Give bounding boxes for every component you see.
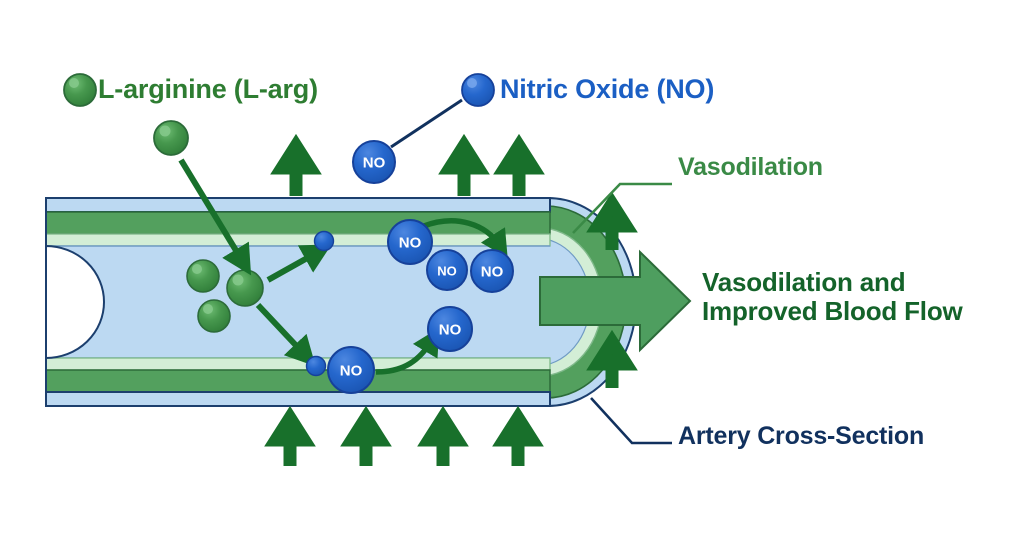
no-molecule-label: NO (481, 264, 504, 281)
legend-label-l-arginine: L-arginine (L-arg) (98, 74, 318, 104)
no-dot (315, 232, 334, 251)
no-molecule-label: NO (340, 363, 363, 380)
vessel-outer-bottom (46, 392, 550, 406)
vasodilation-arrow-up (505, 146, 533, 196)
no-molecule: NO (328, 347, 374, 393)
no-molecule-escaping: NO (353, 141, 395, 183)
vasodilation-arrow-up (276, 418, 304, 466)
l-arginine-molecule (187, 260, 219, 292)
vasodilation-arrow-up (352, 418, 380, 466)
vasodilation-arrow-up (429, 418, 457, 466)
no-dot (307, 357, 326, 376)
legend-marker-l-arginine (64, 74, 96, 106)
callout-label-artery-cross-section: Artery Cross-Section (678, 422, 924, 450)
vasodilation-arrow-up (282, 146, 310, 196)
l-arginine-molecule (198, 300, 230, 332)
no-molecule: NO (427, 250, 467, 290)
outcome-line-1: Vasodilation and (702, 267, 905, 297)
vessel-intima-top (46, 234, 550, 246)
outcome-line-2: Improved Blood Flow (702, 296, 963, 326)
no-molecule-label: NO (437, 264, 457, 279)
legend-marker-nitric-oxide (462, 74, 494, 106)
outcome-label: Vasodilation andImproved Blood Flow (702, 268, 963, 326)
no-molecule: NO (388, 220, 432, 264)
vessel-intima-bottom (46, 358, 550, 370)
no-molecule: NO (428, 307, 472, 351)
l-arginine-molecule-external (154, 121, 188, 155)
no-molecule-label: NO (363, 155, 386, 172)
no-molecule-label: NO (439, 322, 462, 339)
vasodilation-arrow-up (450, 146, 478, 196)
legend-label-nitric-oxide: Nitric Oxide (NO) (500, 74, 714, 104)
vessel-outer-top (46, 198, 550, 212)
leader-line-nitric-oxide (391, 100, 462, 147)
vasodilation-arrow-up (504, 418, 532, 466)
vessel-media-bottom (46, 370, 550, 392)
no-molecule: NO (471, 250, 513, 292)
leader-line-artery-cross-section (591, 398, 672, 443)
callout-label-vasodilation: Vasodilation (678, 153, 823, 181)
no-molecule-label: NO (399, 235, 422, 252)
diagram-canvas: NO NO NO NO NO (0, 0, 1024, 559)
l-arginine-molecule (227, 270, 263, 306)
